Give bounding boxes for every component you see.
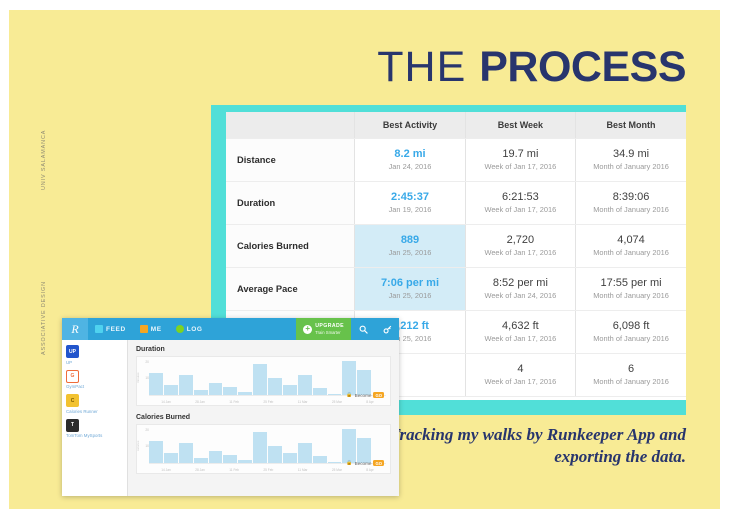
chart-x-ticks: 14 Jan28 Jan11 Feb25 Feb11 Mar25 Mar8 Ap… (149, 468, 386, 472)
table-cell-best-week: 6:21:53Week of Jan 17, 2016 (465, 181, 575, 224)
chart-bar (342, 429, 356, 463)
chart-bar (328, 394, 342, 395)
cell-value: 19.7 mi (468, 147, 573, 161)
chart-title: Calories Burned (136, 414, 391, 421)
chart-plot-area: 2010calories14 Jan28 Jan11 Feb25 Feb11 M… (136, 424, 391, 474)
search-icon[interactable] (351, 318, 375, 340)
become-go-text: Become (355, 461, 372, 466)
go-badge: GO (373, 392, 384, 398)
sidebar-app-item[interactable]: CCalories Runner (66, 394, 123, 414)
become-go-badge[interactable]: 🔒BecomeGO (346, 460, 384, 466)
cell-value: 17:55 per mi (578, 276, 684, 290)
table-header-row: Best Activity Best Week Best Month (226, 112, 686, 138)
cell-subtext: Month of January 2016 (578, 376, 684, 387)
lock-icon: 🔒 (346, 460, 352, 466)
feed-square-icon (95, 325, 103, 333)
app-badge-icon: G (66, 370, 79, 383)
chart-bar (149, 373, 163, 395)
table-cell-best-week: 8:52 per miWeek of Jan 24, 2016 (465, 267, 575, 310)
chart-bar (253, 432, 267, 463)
sidebar-app-item[interactable]: TTomTom MySports (66, 419, 123, 439)
chart-y-axis-label: calories (136, 441, 140, 451)
chart-y-axis: 2010 (140, 428, 149, 466)
cell-subtext: Month of January 2016 (578, 290, 684, 301)
upgrade-button[interactable]: + UPGRADE Train Smarter (296, 318, 351, 340)
table-cell-best-month: 34.9 miMonth of January 2016 (576, 138, 686, 181)
chart-bar (179, 375, 193, 395)
chart-x-ticks: 14 Jan28 Jan11 Feb25 Feb11 Mar25 Mar8 Ap… (149, 400, 386, 404)
app-body: UPUPGGymPactCCalories RunnerTTomTom MySp… (62, 340, 399, 496)
cell-subtext: Jan 24, 2016 (357, 161, 462, 172)
table-cell-best-month: 6,098 ftMonth of January 2016 (576, 310, 686, 353)
app-badge-icon: C (66, 394, 79, 407)
x-axis-tick: 8 Apr (366, 400, 373, 404)
table-cell-best-week: 2,720Week of Jan 17, 2016 (465, 224, 575, 267)
plus-circle-icon: + (303, 325, 312, 334)
x-axis-tick: 11 Mar (298, 468, 308, 472)
nav-item-feed[interactable]: FEED (88, 318, 133, 340)
become-go-text: Become (355, 393, 372, 398)
chart-bar (238, 392, 252, 395)
x-axis-tick: 28 Jan (195, 468, 205, 472)
nav-item-me-label: ME (151, 326, 162, 333)
app-badge-icon: T (66, 419, 79, 432)
table-row-label: Duration (226, 181, 355, 224)
app-badge-icon: UP (66, 345, 79, 358)
log-plus-icon (176, 325, 184, 333)
page-title: THE PROCESS (377, 42, 686, 92)
sidebar-app-item[interactable]: UPUP (66, 345, 123, 365)
cell-value: 4,074 (578, 233, 684, 247)
chart-bar (149, 441, 163, 463)
lock-icon: 🔒 (346, 392, 352, 398)
app-main-content: Duration2010minutes14 Jan28 Jan11 Feb25 … (128, 340, 399, 496)
side-label-university: UNIV SALAMANCA (41, 130, 47, 190)
table-row-label: Calories Burned (226, 224, 355, 267)
cell-value: 7:06 per mi (357, 276, 462, 290)
nav-item-me[interactable]: ME (133, 318, 169, 340)
upgrade-title: UPGRADE (315, 323, 344, 329)
cell-value: 8:52 per mi (468, 276, 573, 290)
table-header: Best Activity Best Week Best Month (226, 112, 686, 138)
cell-value: 8.2 mi (357, 147, 462, 161)
table-header-corner (226, 112, 355, 138)
go-badge: GO (373, 460, 384, 466)
cell-subtext: Jan 19, 2016 (357, 204, 462, 215)
chart-bar (313, 388, 327, 395)
settings-icon[interactable] (375, 318, 399, 340)
x-axis-tick: 8 Apr (366, 468, 373, 472)
table-row: Duration2:45:37Jan 19, 20166:21:53Week o… (226, 181, 686, 224)
chart-y-axis-label: minutes (136, 372, 140, 383)
x-axis-tick: 11 Feb (229, 468, 239, 472)
chart-bars (149, 429, 386, 464)
chart-bar (164, 453, 178, 463)
cell-value: 889 (357, 233, 462, 247)
app-sidebar: UPUPGGymPactCCalories RunnerTTomTom MySp… (62, 340, 128, 496)
cell-value: 4,632 ft (468, 319, 573, 333)
chart-bar (223, 455, 237, 464)
runkeeper-app-window: R FEED ME LOG + UPGRADE Train Smarter (62, 318, 399, 496)
cell-value: 4 (468, 362, 573, 376)
table-header-best-week: Best Week (465, 112, 575, 138)
sidebar-app-name: GymPact (66, 384, 123, 389)
cell-subtext: Jan 25, 2016 (357, 290, 462, 301)
table-cell-best-month: 17:55 per miMonth of January 2016 (576, 267, 686, 310)
chart-bar (194, 458, 208, 463)
chart-bar (194, 390, 208, 395)
cell-subtext: Week of Jan 17, 2016 (468, 247, 573, 258)
page-margin-left (0, 0, 9, 518)
sidebar-app-name: TomTom MySports (66, 433, 123, 438)
chart-bar (283, 385, 297, 395)
chart-bar (238, 460, 252, 463)
x-axis-tick: 11 Feb (229, 400, 239, 404)
sidebar-app-name: UP (66, 360, 123, 365)
x-axis-tick: 14 Jan (161, 468, 171, 472)
cell-subtext: Week of Jan 17, 2016 (468, 204, 573, 215)
cell-value: 6,098 ft (578, 319, 684, 333)
nav-item-log[interactable]: LOG (169, 318, 210, 340)
chart-bar (283, 453, 297, 463)
chart-bar (268, 378, 282, 395)
cell-subtext: Week of Jan 17, 2016 (468, 333, 573, 344)
table-cell-best-month: 6Month of January 2016 (576, 353, 686, 396)
chart-bars (149, 361, 386, 396)
table-header-best-month: Best Month (576, 112, 686, 138)
chart-plot-area: 2010minutes14 Jan28 Jan11 Feb25 Feb11 Ma… (136, 356, 391, 406)
chart-bar (298, 443, 312, 463)
chart-bar (328, 462, 342, 463)
cell-subtext: Month of January 2016 (578, 247, 684, 258)
chart-bar (179, 443, 193, 463)
page-margin-top (0, 0, 730, 10)
chart-bar (164, 385, 178, 395)
page-margin-right (720, 0, 730, 518)
table-row: Average Pace7:06 per miJan 25, 20168:52 … (226, 267, 686, 310)
nav-item-log-label: LOG (187, 326, 203, 333)
title-thin-part: THE (377, 43, 479, 91)
chart-bar (209, 383, 223, 395)
table-row: Calories Burned889Jan 25, 20162,720Week … (226, 224, 686, 267)
cell-subtext: Week of Jan 17, 2016 (468, 376, 573, 387)
cell-subtext: Week of Jan 17, 2016 (468, 161, 573, 172)
cell-value: 2:45:37 (357, 190, 462, 204)
side-label-department: ASSOCIATIVE DESIGN (41, 281, 47, 355)
table-cell-best-week: 4Week of Jan 17, 2016 (465, 353, 575, 396)
x-axis-tick: 25 Mar (332, 400, 342, 404)
table-cell-best-month: 8:39:06Month of January 2016 (576, 181, 686, 224)
chart-bar (268, 446, 282, 463)
table-cell-best-activity: 2:45:37Jan 19, 2016 (355, 181, 465, 224)
chart-bar (209, 451, 223, 463)
become-go-badge[interactable]: 🔒BecomeGO (346, 392, 384, 398)
table-header-best-activity: Best Activity (355, 112, 465, 138)
cell-subtext: Month of January 2016 (578, 204, 684, 215)
cell-subtext: Jan 25, 2016 (357, 247, 462, 258)
sidebar-app-name: Calories Runner (66, 409, 123, 414)
table-cell-best-activity: 8.2 miJan 24, 2016 (355, 138, 465, 181)
cell-value: 2,720 (468, 233, 573, 247)
chart-bar (313, 456, 327, 463)
title-bold-part: PROCESS (479, 43, 686, 91)
upgrade-subtitle: Train Smarter (315, 330, 344, 336)
x-axis-tick: 25 Feb (263, 468, 273, 472)
table-row: Distance8.2 miJan 24, 201619.7 miWeek of… (226, 138, 686, 181)
x-axis-tick: 25 Mar (332, 468, 342, 472)
table-cell-best-activity: 7:06 per miJan 25, 2016 (355, 267, 465, 310)
table-row-label: Distance (226, 138, 355, 181)
table-row-label: Average Pace (226, 267, 355, 310)
table-cell-best-week: 19.7 miWeek of Jan 17, 2016 (465, 138, 575, 181)
cell-value: 6:21:53 (468, 190, 573, 204)
upgrade-button-text: UPGRADE Train Smarter (315, 323, 344, 336)
table-cell-best-month: 4,074Month of January 2016 (576, 224, 686, 267)
slide-caption: Tracking my walks by Runkeeper App and e… (386, 424, 686, 467)
chart-bar (342, 361, 356, 395)
x-axis-tick: 28 Jan (195, 400, 205, 404)
table-cell-best-week: 4,632 ftWeek of Jan 17, 2016 (465, 310, 575, 353)
cell-value: 34.9 mi (578, 147, 684, 161)
cell-subtext: Month of January 2016 (578, 161, 684, 172)
x-axis-tick: 25 Feb (263, 400, 273, 404)
runkeeper-logo-icon[interactable]: R (62, 318, 88, 340)
chart-bar (223, 387, 237, 396)
page-margin-bottom (0, 509, 730, 518)
me-person-icon (140, 325, 148, 333)
slide-canvas: THE PROCESS UNIV SALAMANCA ASSOCIATIVE D… (0, 0, 730, 518)
app-navigation-bar: R FEED ME LOG + UPGRADE Train Smarter (62, 318, 399, 340)
nav-item-feed-label: FEED (106, 326, 126, 333)
cell-subtext: Week of Jan 24, 2016 (468, 290, 573, 301)
table-cell-best-activity: 889Jan 25, 2016 (355, 224, 465, 267)
x-axis-tick: 11 Mar (298, 400, 308, 404)
x-axis-tick: 14 Jan (161, 400, 171, 404)
cell-subtext: Month of January 2016 (578, 333, 684, 344)
sidebar-app-item[interactable]: GGymPact (66, 370, 123, 390)
chart-title: Duration (136, 346, 391, 353)
chart-bar (253, 364, 267, 395)
chart-y-axis: 2010 (140, 360, 149, 398)
cell-value: 6 (578, 362, 684, 376)
chart-bar (298, 375, 312, 395)
cell-value: 8:39:06 (578, 190, 684, 204)
